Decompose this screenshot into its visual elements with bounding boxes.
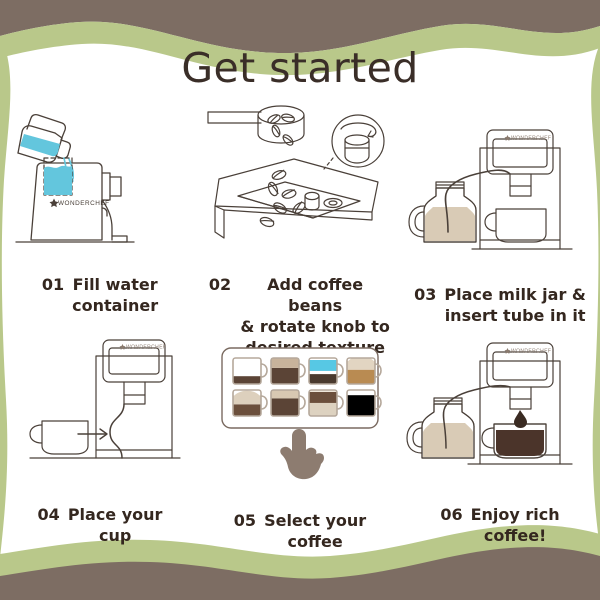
step-05-label-line1: Select your	[264, 511, 366, 530]
step-04-caption: 04 Place your cup	[0, 504, 200, 546]
wonderchef-wordmark: WONDERCHEF	[126, 345, 166, 351]
step-06-label-line2: coffee!	[484, 526, 546, 545]
step-06-illustration: WONDERCHEF	[400, 326, 600, 501]
step-06-caption: 06 Enjoy rich coffee!	[400, 504, 600, 546]
step-02-illustration	[200, 96, 400, 271]
step-03-label-line1: Place milk jar &	[444, 285, 585, 304]
step-03-caption: 03 Place milk jar & insert tube in it	[400, 284, 600, 326]
infographic-root: Get started	[0, 0, 600, 600]
milk-jar-with-tube-icon: WONDERCHEF	[400, 106, 600, 281]
step-02: 02 Add coffee beans & rotate knob to des…	[200, 96, 400, 326]
mug-liquid	[233, 376, 261, 384]
step-03: WONDERCHEF 03 Place milk jar & insert tu…	[400, 106, 600, 336]
wonderchef-logo-mark: WONDERCHEF	[505, 135, 552, 142]
wonderchef-logo-mark: WONDERCHEF	[505, 348, 552, 355]
step-05-number: 05	[234, 510, 256, 531]
page-title: Get started	[0, 44, 600, 92]
step-05-label-line2: coffee	[288, 532, 343, 551]
mug-liquid	[347, 370, 375, 384]
step-04-label: Place your cup	[68, 504, 163, 546]
mug-liquid	[309, 374, 337, 384]
water-jug-pouring-into-machine-icon: WONDERCHEF	[0, 96, 200, 271]
step-03-illustration: WONDERCHEF	[400, 106, 600, 281]
step-04-label-line1: Place your	[68, 505, 163, 524]
pointing-hand-icon	[280, 429, 324, 479]
wonderchef-wordmark: WONDERCHEF	[511, 349, 551, 355]
mug-liquid	[347, 395, 375, 416]
wonderchef-wordmark: WONDERCHEF	[511, 136, 551, 142]
coffee-beans-hopper-grinder-knob-icon	[200, 96, 400, 271]
step-06-label: Enjoy rich coffee!	[471, 504, 560, 546]
step-06-number: 06	[440, 504, 462, 525]
step-05-label: Select your coffee	[264, 510, 366, 552]
step-03-label-line2: insert tube in it	[445, 306, 586, 325]
step-04-illustration: WONDERCHEF	[0, 326, 200, 501]
coffee-drop-icon	[514, 410, 527, 428]
step-06-label-line1: Enjoy rich	[471, 505, 560, 524]
step-01: WONDERCHEF 01 Fill water container	[0, 96, 200, 326]
mug-top-layer	[309, 392, 337, 403]
coffee-dripping-into-cup-icon: WONDERCHEF	[400, 326, 600, 501]
step-02-number: 02	[209, 274, 231, 295]
step-01-label-line1: Fill water	[73, 275, 158, 294]
mug-liquid	[271, 368, 299, 384]
step-04: WONDERCHEF 04 Place your cup	[0, 326, 200, 556]
step-01-illustration: WONDERCHEF	[0, 96, 200, 271]
mug-liquid	[271, 398, 299, 416]
step-01-number: 01	[42, 274, 64, 295]
step-01-label-line2: container	[72, 296, 158, 315]
step-03-label: Place milk jar & insert tube in it	[444, 284, 585, 326]
step-04-number: 04	[38, 504, 60, 525]
cup-placement-arrow-icon: WONDERCHEF	[0, 326, 200, 501]
wonderchef-wordmark: WONDERCHEF	[58, 200, 110, 207]
wonderchef-logo-mark: WONDERCHEF	[120, 344, 167, 351]
step-04-label-line2: cup	[99, 526, 131, 545]
step-01-caption: 01 Fill water container	[0, 274, 200, 316]
wonderchef-logo-mark: WONDERCHEF	[50, 199, 110, 208]
steps-grid: WONDERCHEF 01 Fill water container	[0, 96, 600, 556]
drink-selection-panel-hand-icon	[200, 332, 400, 507]
step-01-label: Fill water container	[72, 274, 158, 316]
step-06: WONDERCHEF 06 Enjoy rich coffee!	[400, 326, 600, 556]
step-05: 05 Select your coffee	[200, 332, 400, 562]
mug-top-layer	[309, 360, 337, 371]
step-05-caption: 05 Select your coffee	[200, 510, 400, 552]
step-05-illustration	[200, 332, 400, 507]
step-03-number: 03	[414, 284, 436, 305]
mug-liquid	[233, 404, 261, 416]
step-02-label-line1: Add coffee beans	[267, 275, 363, 315]
